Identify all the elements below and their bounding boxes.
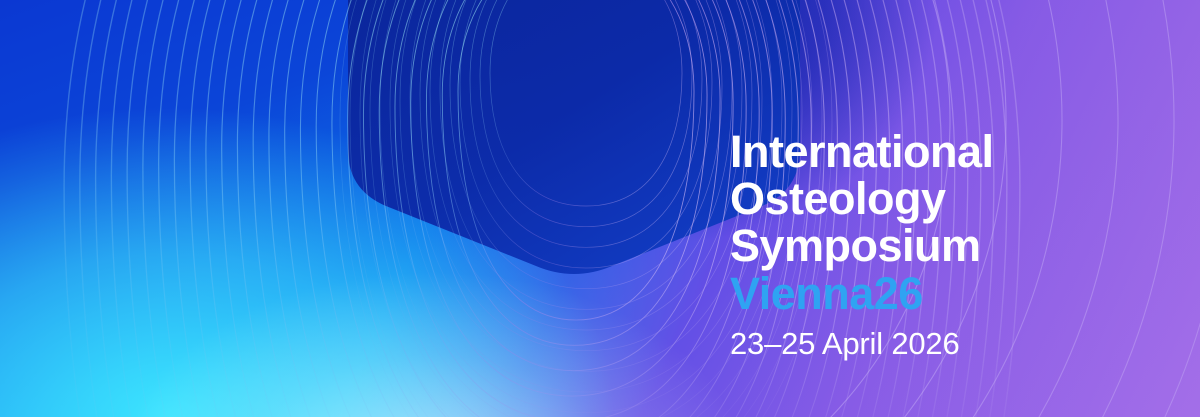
headline-line-venue: Vienna26 [730,270,1170,317]
headline-line-symposium: Symposium [730,222,1170,269]
event-dates: 23–25 April 2026 [730,327,1170,361]
conference-banner: International Osteology Symposium Vienna… [0,0,1200,417]
headline-line-international: International [730,128,1170,175]
headline-line-osteology: Osteology [730,175,1170,222]
headline-block: International Osteology Symposium Vienna… [730,128,1170,361]
